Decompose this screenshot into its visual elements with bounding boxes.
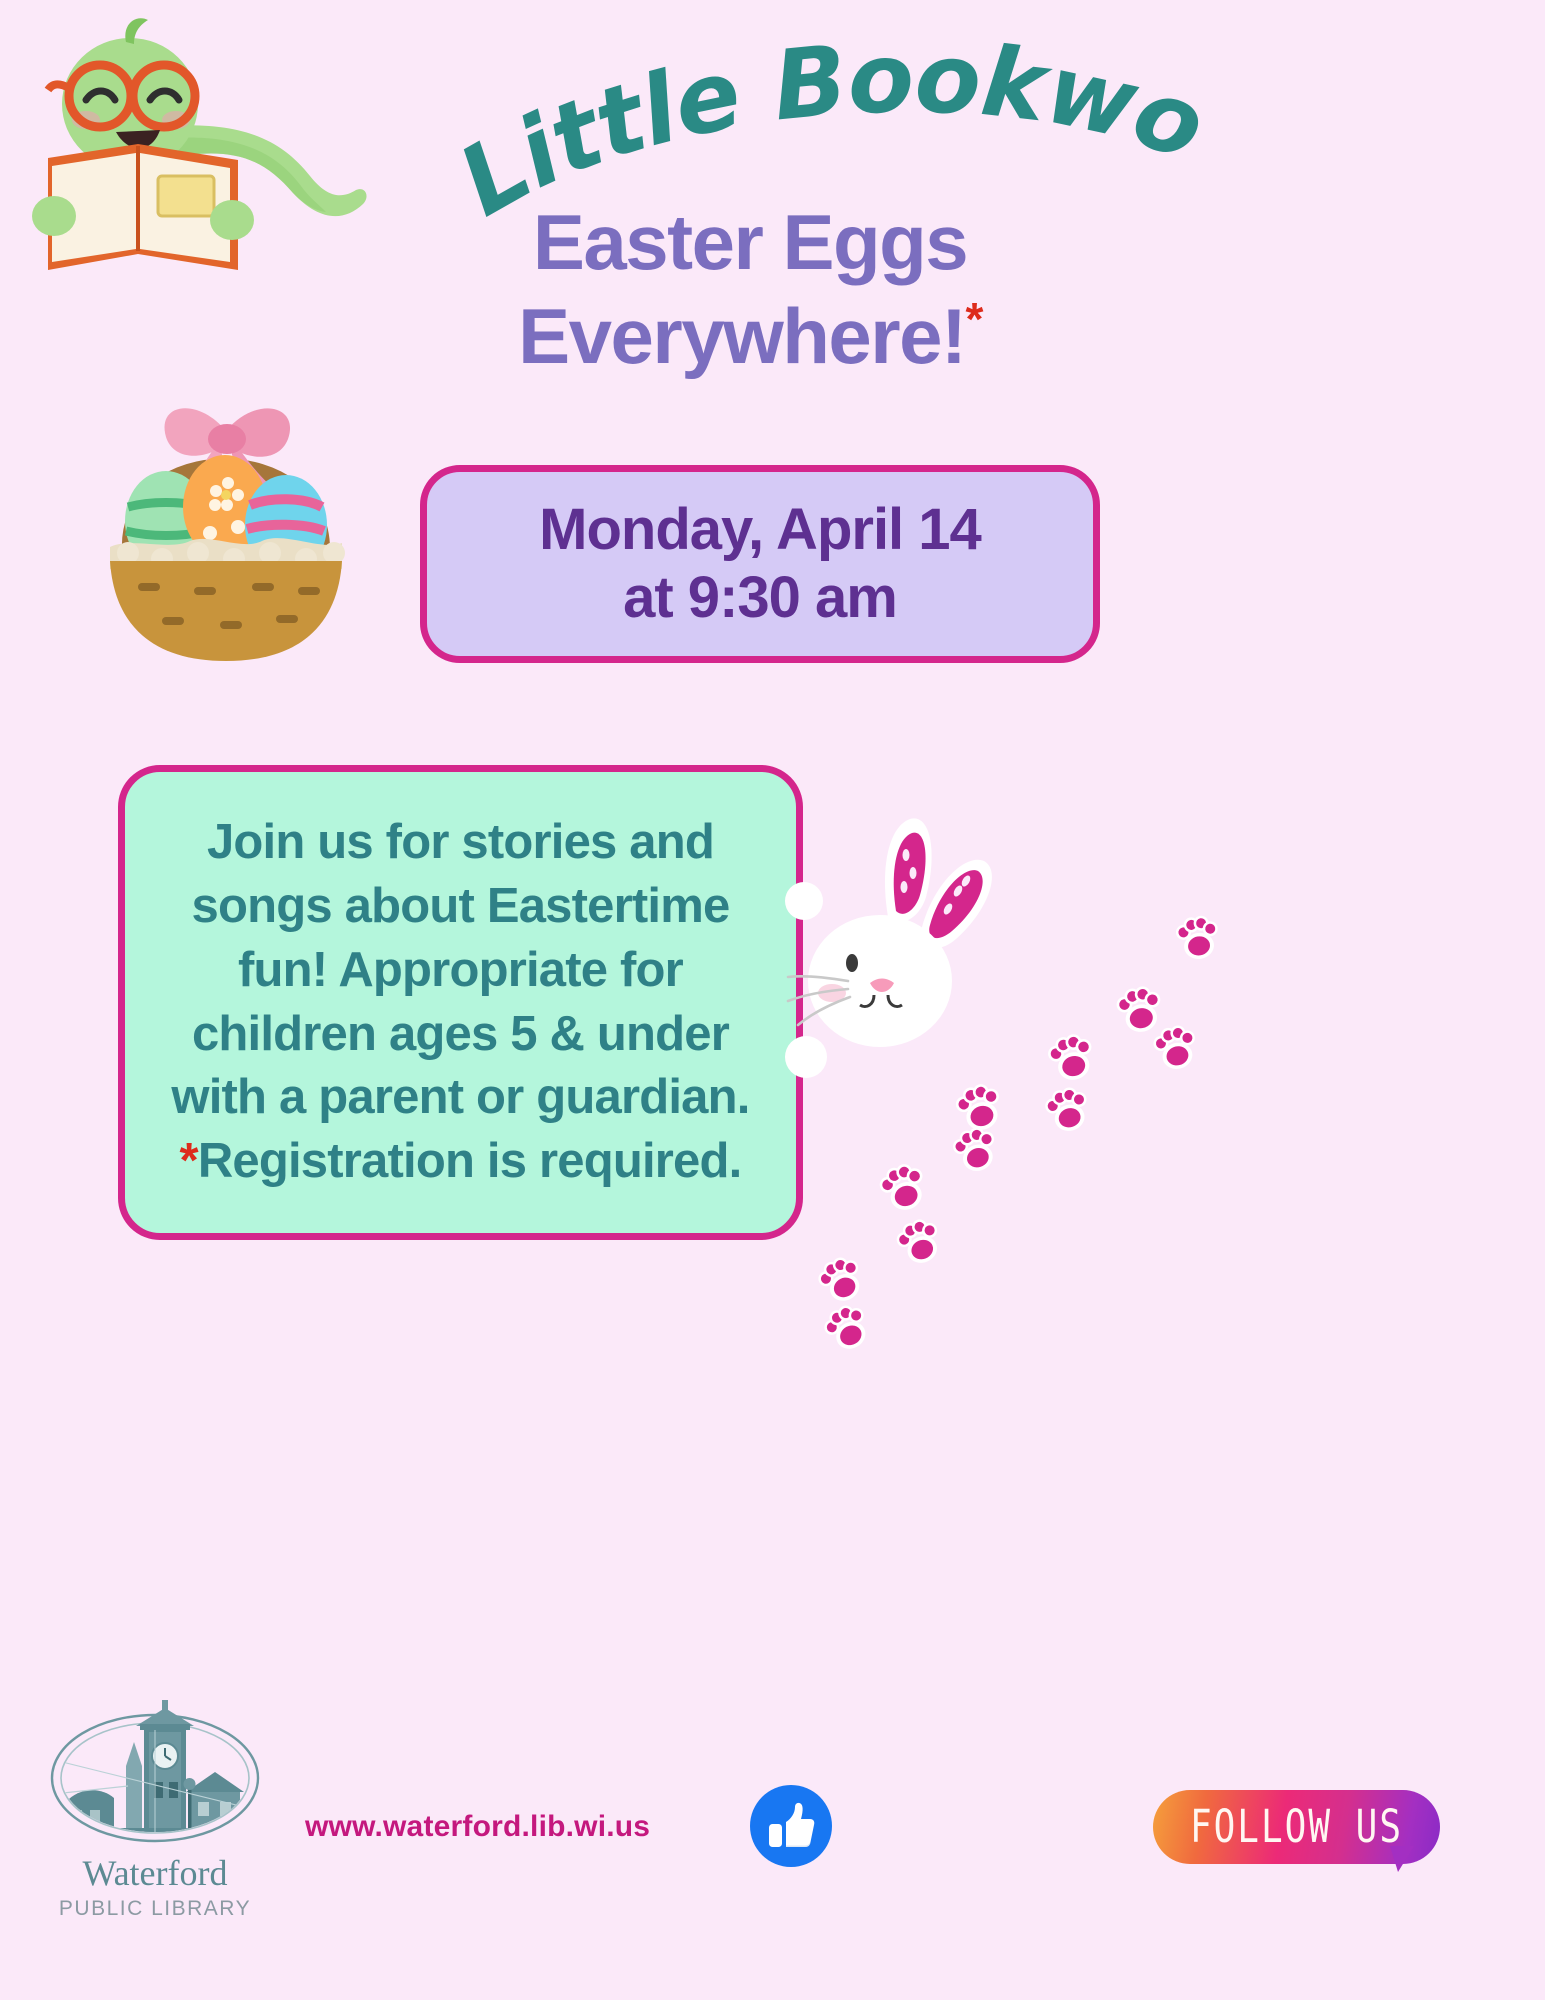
page-title: Easter Eggs Everywhere!* [400, 196, 1100, 383]
event-date-line-1: Monday, April 14 [539, 496, 981, 564]
logo-library-subtitle: PUBLIC LIBRARY [30, 1897, 280, 1921]
follow-us-label: FOLLOW US [1190, 1801, 1403, 1852]
title-line-2: Everywhere! [518, 292, 965, 380]
follow-us-badge[interactable]: FOLLOW US [1153, 1790, 1440, 1864]
website-url[interactable]: www.waterford.lib.wi.us [305, 1810, 650, 1844]
description-line-1: Join us for stories and [171, 811, 749, 875]
registration-asterisk: * [180, 1134, 198, 1188]
title-line-2-row: Everywhere!* [400, 290, 1100, 384]
registration-note-row: *Registration is required. [171, 1130, 749, 1194]
description-line-5: with a parent or guardian. [171, 1066, 749, 1130]
title-asterisk: * [966, 293, 982, 345]
flyer-canvas: Little Bookworms Easter Eggs Everywhere!… [0, 0, 1545, 2000]
title-line-1: Easter Eggs [400, 196, 1100, 290]
facebook-like-button[interactable] [750, 1785, 832, 1867]
clock-tower-logo-icon [48, 1690, 263, 1850]
event-date-text: Monday, April 14 at 9:30 am [539, 496, 981, 633]
bookworm-reading-icon [18, 8, 388, 288]
event-time-line-2: at 9:30 am [539, 564, 981, 632]
paw-print-trail-icon [800, 900, 1320, 1350]
registration-note: Registration is required. [198, 1134, 742, 1188]
event-description-text: Join us for stories and songs about East… [171, 811, 749, 1193]
easter-basket-icon [70, 355, 380, 675]
thumbs-up-icon [765, 1800, 817, 1852]
description-line-2: songs about Eastertime [171, 875, 749, 939]
event-description-box: Join us for stories and songs about East… [118, 765, 803, 1240]
event-date-box: Monday, April 14 at 9:30 am [420, 465, 1100, 663]
description-line-4: children ages 5 & under [171, 1003, 749, 1067]
description-line-3: fun! Appropriate for [171, 939, 749, 1003]
speech-bubble-tail-icon [1388, 1846, 1422, 1880]
library-logo: Waterford PUBLIC LIBRARY [30, 1690, 280, 1960]
logo-library-name: Waterford [30, 1852, 280, 1894]
